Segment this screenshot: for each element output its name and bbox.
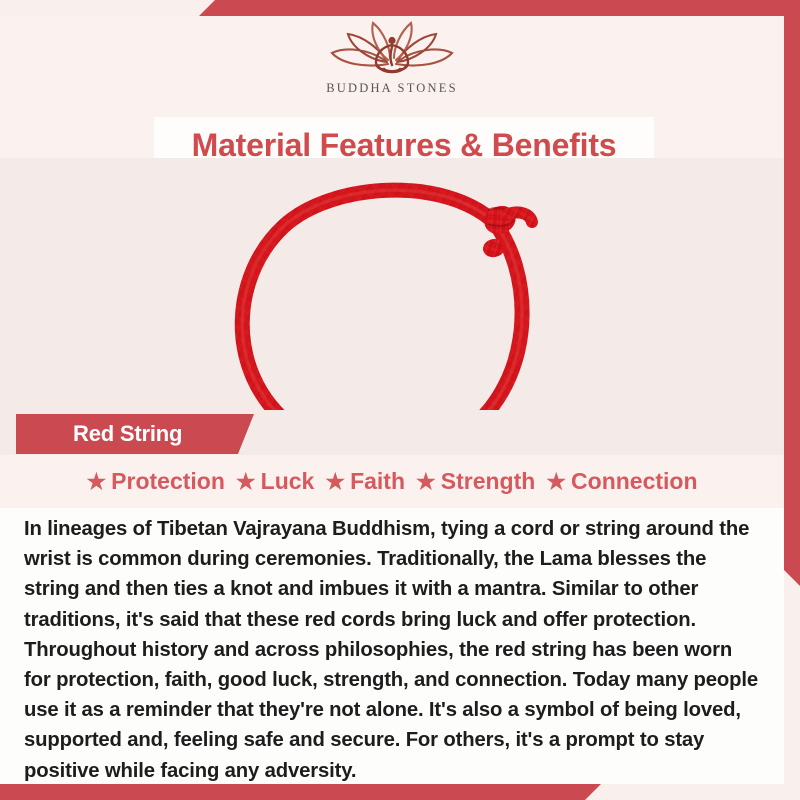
star-icon: ★ [546,471,566,493]
description-paragraph: In lineages of Tibetan Vajrayana Buddhis… [24,514,762,786]
feature-item-luck: ★ Luck [236,468,314,495]
star-icon: ★ [325,471,345,493]
decorative-right-bar [784,0,800,586]
feature-label: Connection [571,468,698,495]
red-string-bracelet-image [232,180,562,410]
decorative-bottom-band [0,784,800,800]
feature-item-faith: ★ Faith [325,468,405,495]
lotus-meditation-icon [326,20,458,80]
material-features-poster: BUDDHA STONES Material Features & Benefi… [0,0,800,800]
feature-item-connection: ★ Connection [546,468,697,495]
ribbon-label: Red String [16,421,182,447]
star-icon: ★ [416,471,436,493]
red-string-ribbon: Red String [16,414,254,454]
feature-label: Strength [441,468,536,495]
product-photo-zone [0,158,784,410]
feature-label: Luck [261,468,315,495]
brand-logo: BUDDHA STONES [0,16,784,108]
description-zone: In lineages of Tibetan Vajrayana Buddhis… [0,508,784,784]
feature-item-strength: ★ Strength [416,468,535,495]
star-icon: ★ [236,471,256,493]
feature-list: ★ Protection ★ Luck ★ Faith ★ Strength ★… [0,455,784,508]
star-icon: ★ [86,471,106,493]
decorative-top-band [0,0,800,16]
feature-label: Protection [111,468,225,495]
feature-item-protection: ★ Protection [86,468,224,495]
ribbon-zone: Red String [0,410,784,455]
brand-name: BUDDHA STONES [326,81,458,96]
brand-header: BUDDHA STONES Material Features & Benefi… [0,16,784,158]
feature-label: Faith [350,468,405,495]
